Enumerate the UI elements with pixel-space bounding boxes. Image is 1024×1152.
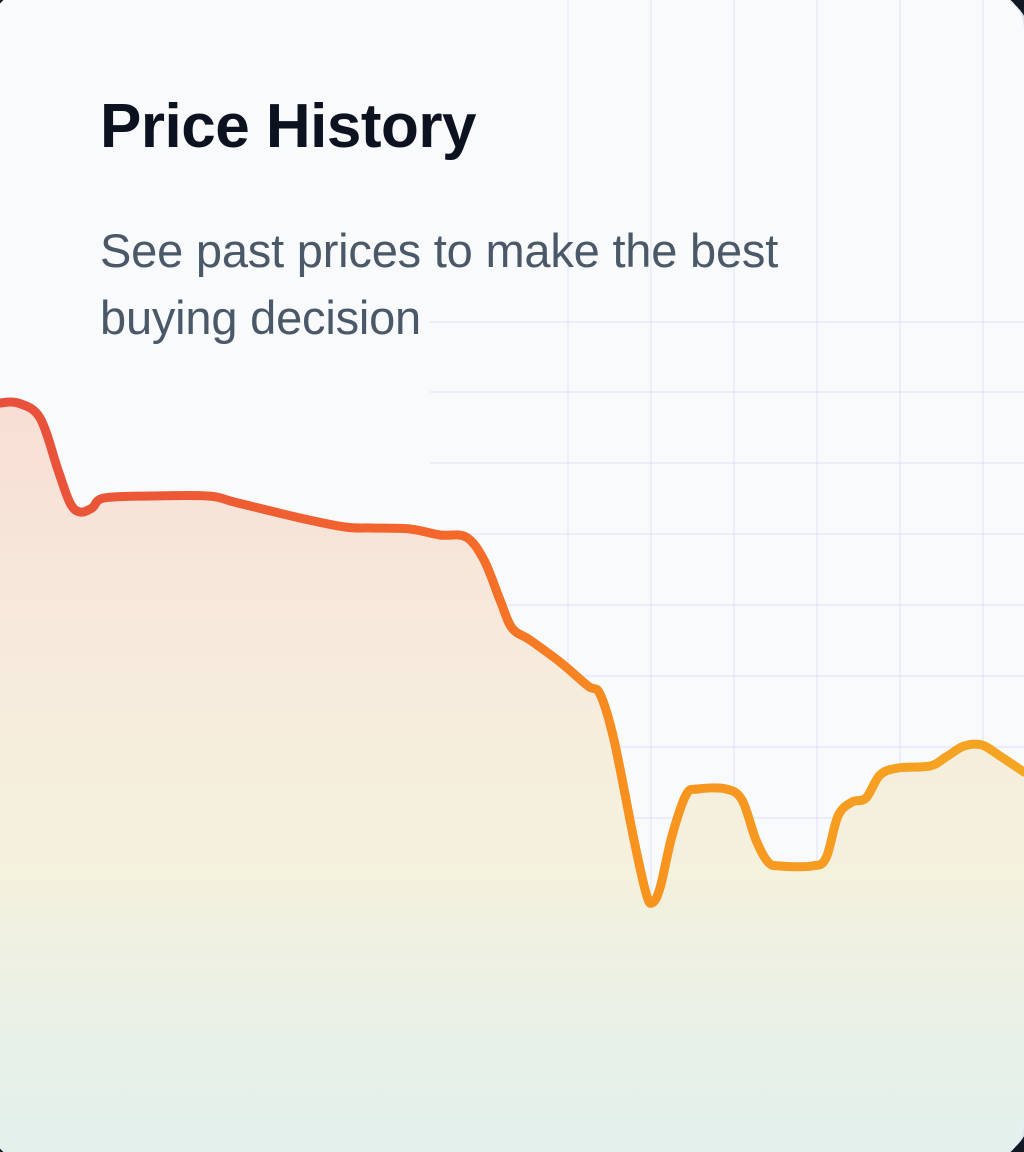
card-text-block: Price History See past prices to make th… [100,96,900,351]
chart-area-fill [0,402,1024,1152]
screen-root: Price History See past prices to make th… [0,0,1024,1152]
page-subtitle: See past prices to make the best buying … [100,158,890,351]
price-history-card: Price History See past prices to make th… [0,0,1024,1152]
page-title: Price History [100,96,900,158]
